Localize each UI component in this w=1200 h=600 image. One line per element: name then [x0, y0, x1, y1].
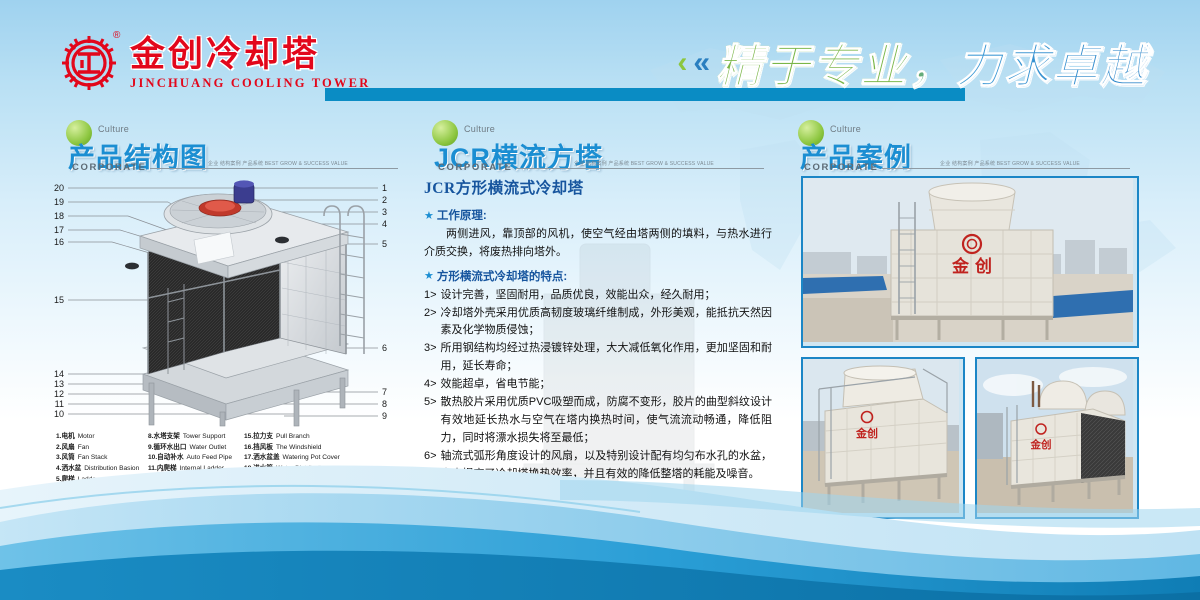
legend-item: 20.减速器Motor Support — [244, 485, 354, 496]
brand-name-cn: 金创冷却塔 — [130, 37, 370, 72]
star-icon: ★ — [424, 209, 434, 222]
section-corporate-label: CORPORATE — [72, 162, 146, 173]
legend-item: 6.梯网Ladder Code — [56, 485, 148, 496]
legend-item: 1.电机Motor — [56, 432, 148, 443]
legend-item: 9.循环水出口Water Outlet — [148, 443, 244, 454]
product-photo-1[interactable]: 金 创 — [801, 176, 1139, 348]
gear-logo-icon: ® — [58, 32, 120, 94]
diagram-label-15: 15 — [54, 295, 64, 305]
legend-item: 18.进水管Water Distributing — [244, 464, 354, 475]
section-culture-label: Culture — [464, 124, 495, 134]
feature-item: 6>轴流式弧形角度设计的风扇，以及特别设计配有均匀布水孔的水盆，大大提高了冷却塔… — [424, 448, 772, 484]
section-header-product-cases: Culture 产品案例 CORPORATE 企业 结构案例 产品系统 BEST… — [790, 118, 1140, 174]
section-rule — [516, 168, 764, 169]
features-heading-text: 方形横流式冷却塔的特点: — [437, 268, 567, 284]
diagram-label-2: 2 — [382, 195, 387, 205]
section-corporate-label: CORPORATE — [438, 162, 512, 173]
diagram-label-10: 10 — [54, 409, 64, 419]
diagram-label-9: 9 — [382, 411, 387, 421]
section-header-jcr-cross-flow: Culture JCR横流方塔 CORPORATE 企业 结构案例 产品系统 B… — [424, 118, 774, 174]
features-list: 1>设计完善，坚固耐用，品质优良，效能出众，经久耐用； 2>冷却塔外壳采用优质高… — [424, 287, 772, 484]
jcr-description-panel: JCR方形横流式冷却塔 ★ 工作原理: 两侧进风，靠顶部的风机，使空气经由塔两侧… — [424, 176, 772, 484]
diagram-label-11: 11 — [55, 399, 64, 409]
diagram-label-5: 5 — [382, 239, 387, 249]
legend-column-3: 15.拉力支Pull Branch 16.挡风板The Windshield 1… — [244, 432, 354, 507]
parts-legend: 1.电机Motor 2.风扇Fan 3.风筒Fan Stack 4.洒水盆Dis… — [56, 432, 406, 507]
star-icon: ★ — [424, 269, 434, 282]
section-corporate-label: CORPORATE — [804, 162, 878, 173]
legend-item: 8.水塔支架Tower Support — [148, 432, 244, 443]
legend-column-1: 1.电机Motor 2.风扇Fan 3.风筒Fan Stack 4.洒水盆Dis… — [56, 432, 148, 507]
diagram-label-7: 7 — [382, 387, 387, 397]
section-culture-label: Culture — [830, 124, 861, 134]
section-microtext: 企业 结构案例 产品系统 BEST GROW & SUCCESS VALUE — [940, 160, 1130, 167]
section-rule — [150, 168, 398, 169]
diagram-label-12: 12 — [54, 389, 64, 399]
features-heading: ★ 方形横流式冷却塔的特点: — [424, 268, 772, 284]
jcr-title: JCR方形横流式冷却塔 — [424, 176, 772, 198]
legend-item: 13.填料承托管Support Tube — [148, 485, 244, 496]
diagram-label-18: 18 — [54, 211, 64, 221]
svg-text:金创: 金创 — [855, 426, 878, 440]
legend-item: 11.内爬梯Internal Ladder — [148, 464, 244, 475]
legend-item: 4.洒水盆Distribution Basion — [56, 464, 148, 475]
legend-item: 17.洒水盆盖Watering Pot Cover — [244, 453, 354, 464]
section-culture-label: Culture — [98, 124, 129, 134]
principle-body: 两侧进风，靠顶部的风机，使空气经由塔两侧的填料，与热水进行介质交换，将废热排向塔… — [424, 226, 772, 262]
diagram-label-3: 3 — [382, 207, 387, 217]
feature-item: 4>效能超卓，省电节能； — [424, 376, 772, 394]
product-photo-3[interactable]: 金创 — [975, 357, 1139, 519]
legend-item: 10.自动补水Auto Feed Pipe — [148, 453, 244, 464]
section-rule — [882, 168, 1130, 169]
feature-item: 5>散热胶片采用优质PVC吸塑而成，防腐不变形，胶片的曲型斜纹设计有效地延长热水… — [424, 394, 772, 448]
diagram-label-4: 4 — [382, 219, 387, 229]
diagram-label-19: 19 — [54, 197, 64, 207]
feature-item: 3>所用钢结构均经过热浸镀锌处理，大大减低氧化作用，更加坚固和耐用，延长寿命； — [424, 340, 772, 376]
legend-item: 3.风筒Fan Stack — [56, 453, 148, 464]
diagram-label-13: 13 — [54, 379, 64, 389]
section-header-product-structure: Culture 产品结构图 CORPORATE 企业 结构案例 产品系统 BES… — [58, 118, 408, 174]
brand-logo[interactable]: ® 金创冷却塔 JINCHUANG COOLING TOWER — [58, 32, 370, 94]
legend-item: 2.风扇Fan — [56, 443, 148, 454]
section-microtext: 企业 结构案例 产品系统 BEST GROW & SUCCESS VALUE — [574, 160, 764, 167]
registered-mark: ® — [113, 30, 120, 41]
diagram-label-14: 14 — [54, 369, 64, 379]
legend-item: 14.填料Infill — [148, 496, 244, 507]
legend-column-2: 8.水塔支架Tower Support 9.循环水出口Water Outlet … — [148, 432, 244, 507]
legend-item: 15.拉力支Pull Branch — [244, 432, 354, 443]
header-slogan: ‹ « 精于专业，力求卓越 — [677, 30, 1148, 96]
diagram-label-1: 1 — [382, 183, 387, 193]
principle-heading: ★ 工作原理: — [424, 207, 772, 223]
svg-text:金创: 金创 — [1030, 438, 1052, 451]
legend-item: 19.保护网Fan Guard — [244, 475, 354, 486]
svg-text:金 创: 金 创 — [951, 256, 992, 277]
product-photo-2[interactable]: 金创 — [801, 357, 965, 519]
feature-item: 2>冷却塔外壳采用优质高韧度玻璃纤维制成，外形美观，能抵抗天然因素及化学物质侵蚀… — [424, 305, 772, 341]
page-header: ® 金创冷却塔 JINCHUANG COOLING TOWER ‹ « 精于专业… — [0, 0, 1200, 110]
diagram-label-20: 20 — [54, 183, 64, 193]
chevron-single-icon: ‹ — [677, 48, 687, 78]
slogan-text: 精于专业，力求卓越 — [716, 30, 1148, 96]
section-microtext: 企业 结构案例 产品系统 BEST GROW & SUCCESS VALUE — [208, 160, 398, 167]
diagram-label-17: 17 — [54, 225, 64, 235]
legend-item: 7.围板Panel — [56, 496, 148, 507]
diagram-label-16: 16 — [54, 237, 64, 247]
diagram-label-8: 8 — [382, 399, 387, 409]
principle-heading-text: 工作原理: — [437, 207, 487, 223]
chevron-double-icon: « — [693, 48, 710, 78]
legend-item: 16.挡风板The Windshield — [244, 443, 354, 454]
product-structure-diagram: 20 19 18 17 16 15 14 13 12 11 10 1 2 3 4… — [48, 178, 398, 428]
feature-item: 1>设计完善，坚固耐用，品质优良，效能出众，经久耐用； — [424, 287, 772, 305]
diagram-label-6: 6 — [382, 343, 387, 353]
legend-item: 5.爬梯Ladder — [56, 475, 148, 486]
legend-item: 12.底盆The Bottom Basin — [148, 475, 244, 486]
